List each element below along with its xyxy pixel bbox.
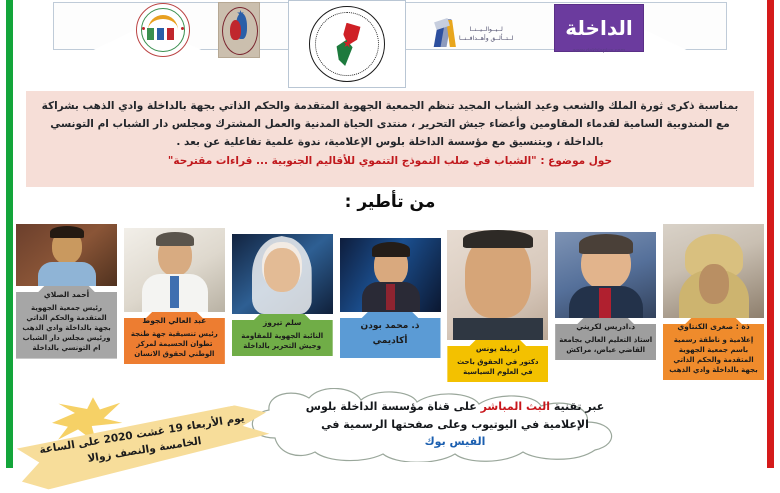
- speaker-caption: د.ادريس لكريني استاذ التعليم العالي بجام…: [555, 318, 656, 360]
- speaker-name: أحمد الصلاي: [19, 290, 114, 301]
- morocco-map-icon: [331, 21, 363, 66]
- broadcast-line1-b: على قناة مؤسسة الداخلة بلوس: [306, 400, 477, 413]
- broadcast-facebook-label: الفيس بوك: [269, 433, 641, 451]
- lyawalina-logo: لــيــوالــيــنــا لــتــألــق وأهــدافـ…: [434, 10, 526, 58]
- subject-line: حول موضوع : "الشباب في صلب النموذج التنم…: [40, 155, 740, 167]
- speaker-photo: [124, 228, 225, 312]
- speaker-title: النائبة الجهوية للمقاومة وجيش التحرير با…: [241, 332, 323, 350]
- right-red-bar: [767, 0, 774, 468]
- broadcast-line2: الإعلامية في اليوتيوب وعلى صفحتها الرسمي…: [269, 416, 641, 434]
- speaker-photo: [663, 224, 764, 318]
- regional-association-seal: [288, 0, 406, 88]
- announcement-paragraph: بمناسبة ذكرى ثورة الملك والشعب وعيد الشب…: [40, 97, 740, 151]
- subject-title: "الشباب في صلب النموذج التنموي للأقاليم …: [168, 155, 537, 167]
- broadcast-cloud: عبر تقنية البث المباشر على قناة مؤسسة ال…: [235, 388, 675, 462]
- broadcast-line1-a: عبر تقنية: [554, 400, 604, 413]
- speaker-name: ذ. محمد بودن: [343, 320, 438, 333]
- speaker-title: رئيس تنسيقية جهة طنجة تطوان الحسيمة لمرك…: [131, 330, 218, 358]
- speaker-card: عبد العالي الجوط رئيس تنسيقية جهة طنجة ت…: [124, 224, 225, 364]
- lyawalina-logo-line2: لــتــألــق وأهــدافــنــا: [459, 34, 513, 43]
- speaker-title: استاذ التعليم العالي بجامعة القاضي عياض،…: [559, 336, 652, 354]
- broadcast-live-highlight: البث المباشر: [481, 400, 550, 413]
- subject-prefix: حول موضوع :: [540, 155, 612, 167]
- speaker-caption: ذة : صغرى الكنتاوي إعلامية و ناطقة رسمية…: [663, 318, 764, 380]
- speaker-title: إعلامية و ناطقة رسمية باسم جمعية الجهوية…: [669, 336, 757, 374]
- speaker-title: دكتور في الحقوق باحث في العلوم السياسية: [457, 358, 538, 376]
- speaker-card: ذ. محمد بودن أكاديمي: [340, 224, 441, 358]
- speaker-caption: أحمد الصلاي رئيس جمعية الجهوية المتقدمة …: [16, 286, 117, 359]
- youth-house-logo: [136, 3, 190, 57]
- speaker-card: د.ادريس لكريني استاذ التعليم العالي بجام…: [555, 224, 656, 360]
- speaker-caption: عبد العالي الجوط رئيس تنسيقية جهة طنجة ت…: [124, 312, 225, 364]
- speaker-name: اربيلة يونس: [450, 344, 545, 355]
- lyawalina-logo-line1: لــيــوالــيــنــا: [459, 25, 513, 34]
- dakhla-plus-logo-url: www.dakhlaplus.com: [554, 48, 644, 54]
- dakhla-plus-logo: الداخلة www.dakhlaplus.com: [554, 0, 644, 52]
- logo-row: الداخلة www.dakhlaplus.com لــيــوالــيـ…: [13, 0, 767, 92]
- speaker-name: سلم تيروز: [235, 318, 330, 329]
- speaker-caption: سلم تيروز النائبة الجهوية للمقاومة وجيش …: [232, 314, 333, 356]
- speaker-photo: [555, 232, 656, 318]
- speaker-photo: [232, 234, 333, 314]
- speaker-photo: [340, 238, 441, 312]
- speakers-strip: ذة : صغرى الكنتاوي إعلامية و ناطقة رسمية…: [16, 224, 764, 390]
- speaker-name: عبد العالي الجوط: [127, 316, 222, 327]
- dakhla-plus-logo-text: الداخلة: [565, 16, 632, 40]
- speaker-photo: [16, 224, 117, 286]
- framing-label: من تأطير :: [0, 192, 780, 212]
- speaker-card: ذة : صغرى الكنتاوي إعلامية و ناطقة رسمية…: [663, 224, 764, 380]
- speaker-name: ذة : صغرى الكنتاوي: [666, 322, 761, 333]
- speaker-title: أكاديمي: [373, 336, 408, 346]
- speaker-card: سلم تيروز النائبة الجهوية للمقاومة وجيش …: [232, 224, 333, 356]
- speaker-name: د.ادريس لكريني: [558, 322, 653, 333]
- speaker-photo: [447, 230, 548, 340]
- speaker-card: اربيلة يونس دكتور في الحقوق باحث في العل…: [447, 224, 548, 382]
- national-council-human-rights-logo: [218, 2, 260, 58]
- speaker-caption: ذ. محمد بودن أكاديمي: [340, 312, 441, 358]
- broadcast-line1: عبر تقنية البث المباشر على قناة مؤسسة ال…: [269, 398, 641, 416]
- lyawalina-logo-mark: [434, 19, 456, 49]
- speaker-title: رئيس جمعية الجهوية المتقدمة والحكم الذات…: [22, 304, 110, 353]
- announcement-text-block: بمناسبة ذكرى ثورة الملك والشعب وعيد الشب…: [26, 91, 754, 187]
- broadcast-text: عبر تقنية البث المباشر على قناة مؤسسة ال…: [235, 398, 675, 451]
- header-logo-band: الداخلة www.dakhlaplus.com لــيــوالــيـ…: [13, 0, 767, 92]
- left-green-bar: [6, 0, 13, 468]
- speaker-card: أحمد الصلاي رئيس جمعية الجهوية المتقدمة …: [16, 224, 117, 359]
- speaker-caption: اربيلة يونس دكتور في الحقوق باحث في العل…: [447, 340, 548, 382]
- date-banner: يوم الأربعاء 19 غشت 2020 على الساعة الخا…: [15, 401, 272, 493]
- poster-root: الداخلة www.dakhlaplus.com لــيــوالــيـ…: [0, 0, 780, 468]
